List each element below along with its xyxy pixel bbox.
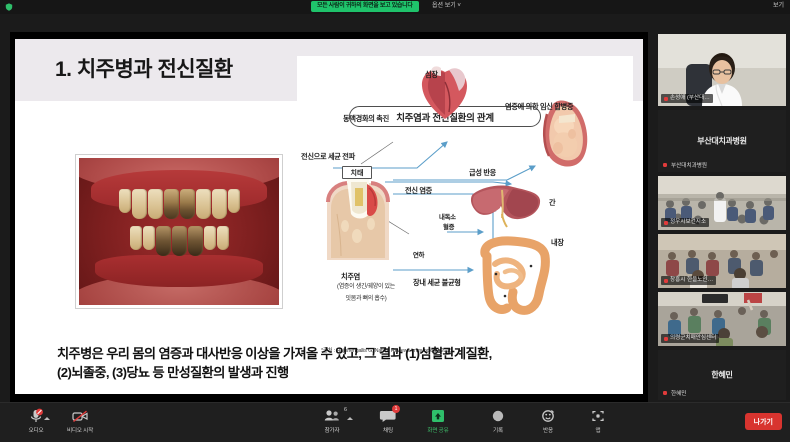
tooth-crosssection-illustration [325, 174, 391, 266]
label-periodontitis: 치주염 [341, 272, 360, 281]
liver-illustration [469, 184, 543, 228]
video-button[interactable]: 비디오 시작 [56, 408, 104, 440]
periodontitis-photo [79, 158, 279, 305]
label-liver: 간 [549, 198, 555, 207]
label-heart: 심장 [425, 70, 438, 79]
label-acute-response: 급성 반응 [469, 168, 496, 177]
view-mode-button[interactable]: 보기 [773, 1, 784, 12]
label-endotoxemia-line2: 혈증 [443, 224, 454, 232]
video-label: 비디오 시작 [67, 426, 93, 434]
participants-button[interactable]: 6 참가자 [308, 408, 356, 440]
participant-name-label: 한혜민 [662, 389, 686, 397]
share-screen-label: 화면 공유 [427, 426, 448, 434]
lower-gum [95, 255, 263, 287]
reactions-button[interactable]: 반응 [524, 408, 572, 440]
participant-name: 한혜민 [658, 370, 786, 381]
label-pregnancy-complication: 염증에 의한 임신 합병증 [505, 102, 573, 111]
record-button[interactable]: 기록 [474, 408, 522, 440]
view-options-button[interactable]: 옵션 보기 ˅ [432, 1, 461, 12]
shield-icon [5, 3, 13, 11]
participant-name: 부산대치과병원 [658, 136, 786, 147]
camera-off-icon [71, 408, 89, 424]
intestine-illustration [475, 238, 555, 316]
chat-button[interactable]: 1 채팅 [364, 408, 412, 440]
chat-unread-badge: 1 [392, 405, 400, 413]
label-bacteria-spread: 전신으로 세균 전파 [301, 152, 355, 161]
audio-options-chevron-icon[interactable] [44, 417, 50, 420]
participants-options-chevron-icon[interactable] [347, 417, 353, 420]
participant-name-label: 의령군치매안심센터 [661, 334, 719, 343]
participants-icon: 6 [323, 408, 341, 424]
reactions-icon [539, 408, 557, 424]
label-atherosclerosis: 동맥경화의 촉진 [343, 114, 389, 123]
reactions-label: 반응 [543, 426, 553, 434]
label-endotoxemia-line1: 내독소 [439, 214, 456, 222]
audio-label: 오디오 [29, 426, 44, 434]
participant-name-label: 부산대치과병원 [662, 161, 707, 169]
participants-count: 6 [344, 407, 347, 413]
apps-icon [589, 408, 607, 424]
share-screen-button[interactable]: 화면 공유 [414, 408, 462, 440]
caption-line-1: 치주병은 우리 몸의 염증과 대사반응 이상을 가져올 수 있고, 그 결과 (… [57, 344, 617, 363]
label-viscera: 내장 [551, 238, 564, 247]
leave-meeting-button[interactable]: 나가기 [745, 413, 782, 430]
chat-label: 채팅 [383, 426, 393, 434]
participant-tile-hall-2[interactable]: 창흥시 한울노인… [658, 234, 786, 288]
lower-teeth-row [79, 226, 279, 256]
participant-name-label: 정우시보건지소 [661, 218, 709, 227]
participant-name-label: 창흥시 한울노인… [661, 276, 716, 285]
slide-title: 1. 치주병과 전신질환 [55, 53, 233, 83]
label-periodontitis-sub1: (염증이 생긴/궤양이 있는 [301, 284, 431, 292]
shared-screen-stage: 1. 치주병과 전신질환 [10, 32, 648, 402]
heart-illustration [415, 64, 473, 124]
caption-line-2: (2)뇌졸중, (3)당뇨 등 만성질환의 발생과 진행 [57, 363, 617, 382]
slide-caption: 치주병은 우리 몸의 염증과 대사반응 이상을 가져올 수 있고, 그 결과 (… [57, 344, 617, 382]
record-label: 기록 [493, 426, 503, 434]
zoom-meeting-window: 모든 사람이 귀하의 화면을 보고 있습니다 옵션 보기 ˅ 보기 1. 치주병… [0, 0, 790, 442]
participant-tile-placeholder-hanhyemin[interactable]: 한혜민 한혜민 [658, 350, 786, 400]
participant-strip[interactable]: 손성애 (부산대… 부산대치과병원 부산대치과병원 [654, 30, 790, 402]
label-periodontitis-sub2: 잇몸과 뼈의 흡수) [301, 296, 431, 304]
audio-button[interactable]: 오디오 [12, 408, 60, 440]
clinical-photo-frame [75, 154, 283, 309]
participants-label: 참가자 [325, 426, 340, 434]
label-swallowing: 연하 [413, 252, 424, 260]
share-screen-icon [429, 408, 447, 424]
upper-teeth-row [79, 189, 279, 219]
microphone-muted-icon [27, 408, 45, 424]
meeting-toolbar: 오디오 비디오 시작 6 [0, 402, 790, 442]
label-plaque: 치태 [342, 166, 372, 179]
participant-tile-placeholder-hospital[interactable]: 부산대치과병원 부산대치과병원 [658, 110, 786, 172]
participant-tile-active-speaker[interactable]: 손성애 (부산대… [658, 34, 786, 106]
presentation-slide: 1. 치주병과 전신질환 [15, 39, 643, 394]
record-icon [489, 408, 507, 424]
top-notification-bar: 모든 사람이 귀하의 화면을 보고 있습니다 옵션 보기 ˅ 보기 [0, 0, 790, 14]
participant-name-label: 손성애 (부산대… [661, 94, 713, 103]
relationship-diagram: 치주염과 전신질환의 관계 [297, 56, 633, 366]
chat-icon: 1 [379, 408, 397, 424]
apps-button[interactable]: 앱 [574, 408, 622, 440]
participant-tile-hall-3[interactable]: 의령군치매안심센터 [658, 292, 786, 346]
screen-share-notice: 모든 사람이 귀하의 화면을 보고 있습니다 [311, 1, 419, 12]
apps-label: 앱 [596, 426, 601, 434]
label-systemic-inflammation: 전신 염증 [405, 186, 432, 195]
participant-tile-hall-1[interactable]: 정우시보건지소 [658, 176, 786, 230]
